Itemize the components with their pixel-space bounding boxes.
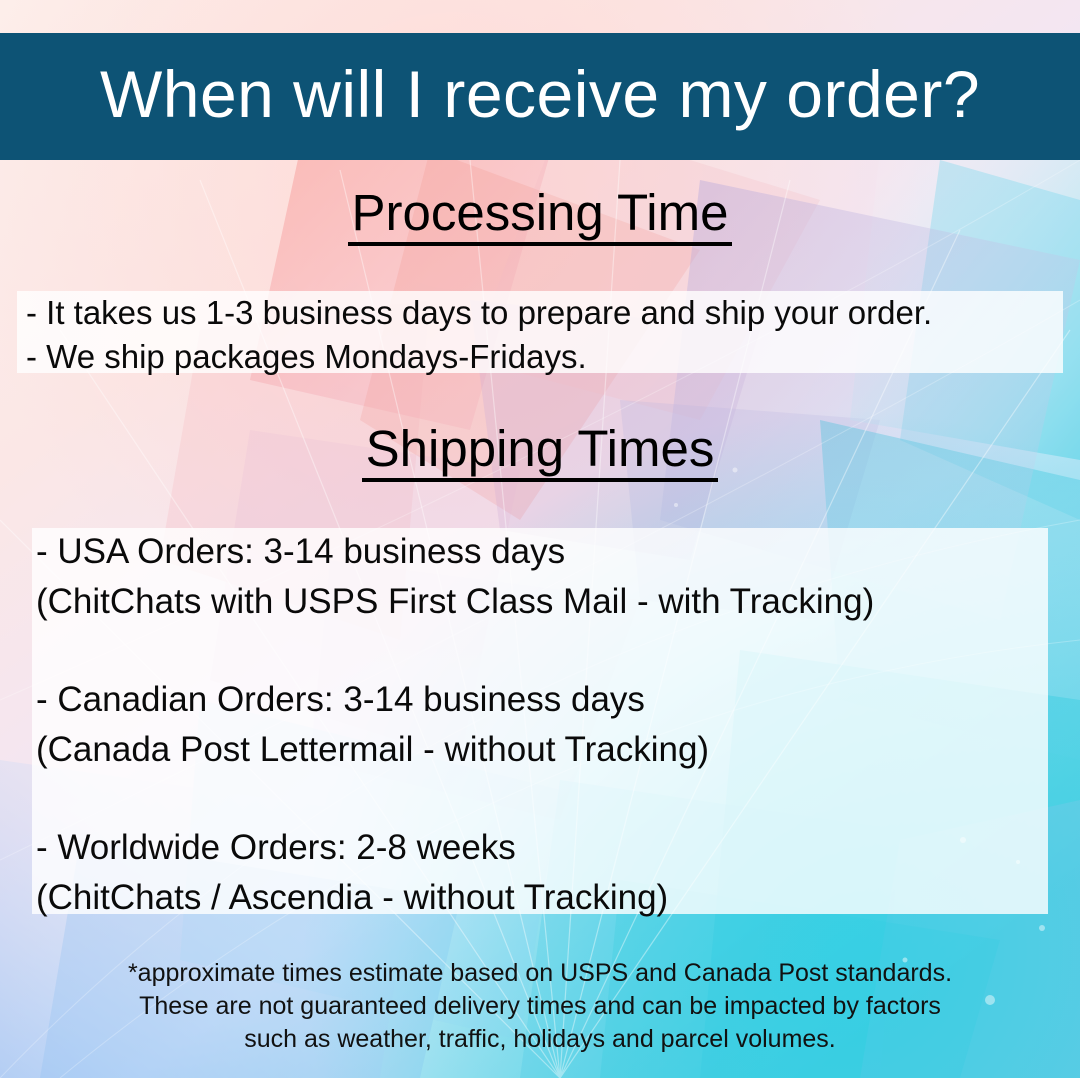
shipping-times-heading-text: Shipping Times [362, 422, 719, 482]
processing-time-body: - It takes us 1-3 business days to prepa… [26, 291, 1066, 379]
shipping-group-worldwide: - Worldwide Orders: 2-8 weeks (ChitChats… [36, 823, 1052, 923]
shipping-spacer-2 [36, 775, 1052, 823]
processing-time-line-2: - We ship packages Mondays-Fridays. [26, 335, 1066, 379]
page-title: When will I receive my order? [100, 61, 980, 133]
processing-time-heading: Processing Time [0, 186, 1080, 246]
footnote-block: *approximate times estimate based on USP… [0, 957, 1080, 1056]
shipping-usa-line-1: - USA Orders: 3-14 business days [36, 527, 1052, 577]
shipping-spacer-1 [36, 627, 1052, 675]
footnote-line-3: such as weather, traffic, holidays and p… [0, 1023, 1080, 1056]
shipping-group-usa: - USA Orders: 3-14 business days (ChitCh… [36, 527, 1052, 627]
shipping-times-section: Shipping Times [0, 422, 1080, 482]
shipping-times-heading: Shipping Times [0, 422, 1080, 482]
shipping-canada-line-1: - Canadian Orders: 3-14 business days [36, 675, 1052, 725]
shipping-times-body: - USA Orders: 3-14 business days (ChitCh… [36, 527, 1052, 923]
page-title-banner: When will I receive my order? [0, 33, 1080, 160]
shipping-usa-line-2: (ChitChats with USPS First Class Mail - … [36, 577, 1052, 627]
processing-time-heading-text: Processing Time [348, 186, 733, 246]
shipping-worldwide-line-1: - Worldwide Orders: 2-8 weeks [36, 823, 1052, 873]
footnote-line-1: *approximate times estimate based on USP… [0, 957, 1080, 990]
processing-time-line-1: - It takes us 1-3 business days to prepa… [26, 291, 1066, 335]
shipping-worldwide-line-2: (ChitChats / Ascendia - without Tracking… [36, 873, 1052, 923]
shipping-group-canada: - Canadian Orders: 3-14 business days (C… [36, 675, 1052, 775]
footnote-line-2: These are not guaranteed delivery times … [0, 990, 1080, 1023]
processing-time-section: Processing Time [0, 186, 1080, 246]
shipping-canada-line-2: (Canada Post Lettermail - without Tracki… [36, 725, 1052, 775]
